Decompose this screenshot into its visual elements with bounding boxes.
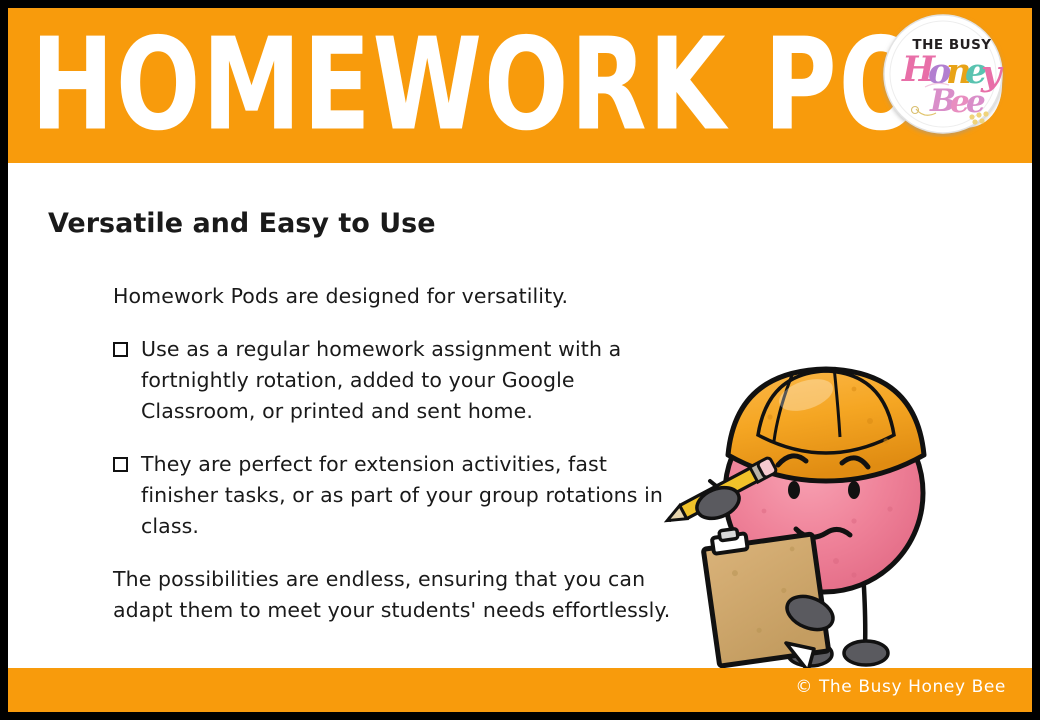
closing-paragraph: The possibilities are endless, ensuring … bbox=[113, 564, 673, 626]
page-title: HOMEWORK POD bbox=[49, 8, 991, 163]
footer-band: © The Busy Honey Bee bbox=[8, 668, 1032, 712]
checkbox-square-icon bbox=[113, 457, 128, 472]
slide-frame: HOMEWORK POD THE BUSY bbox=[0, 0, 1040, 720]
intro-paragraph: Homework Pods are designed for versatili… bbox=[113, 281, 673, 312]
checkbox-square-icon bbox=[113, 342, 128, 357]
copyright-credit: © The Busy Honey Bee bbox=[795, 677, 1006, 697]
mascot-illustration bbox=[658, 343, 1028, 673]
list-item: They are perfect for extension activitie… bbox=[113, 449, 673, 542]
slide-canvas: HOMEWORK POD THE BUSY bbox=[8, 8, 1032, 712]
svg-text:e: e bbox=[966, 84, 986, 120]
list-item: Use as a regular homework assignment wit… bbox=[113, 334, 673, 427]
list-item-label: Use as a regular homework assignment wit… bbox=[141, 334, 673, 427]
brand-logo-badge: THE BUSY H o n e y B e e bbox=[880, 11, 1006, 137]
main-content: Versatile and Easy to Use Homework Pods … bbox=[8, 163, 1032, 668]
list-item-label: They are perfect for extension activitie… bbox=[141, 449, 673, 542]
section-heading: Versatile and Easy to Use bbox=[48, 208, 436, 239]
body-text-block: Homework Pods are designed for versatili… bbox=[113, 281, 673, 626]
header-band: HOMEWORK POD bbox=[8, 8, 1032, 163]
